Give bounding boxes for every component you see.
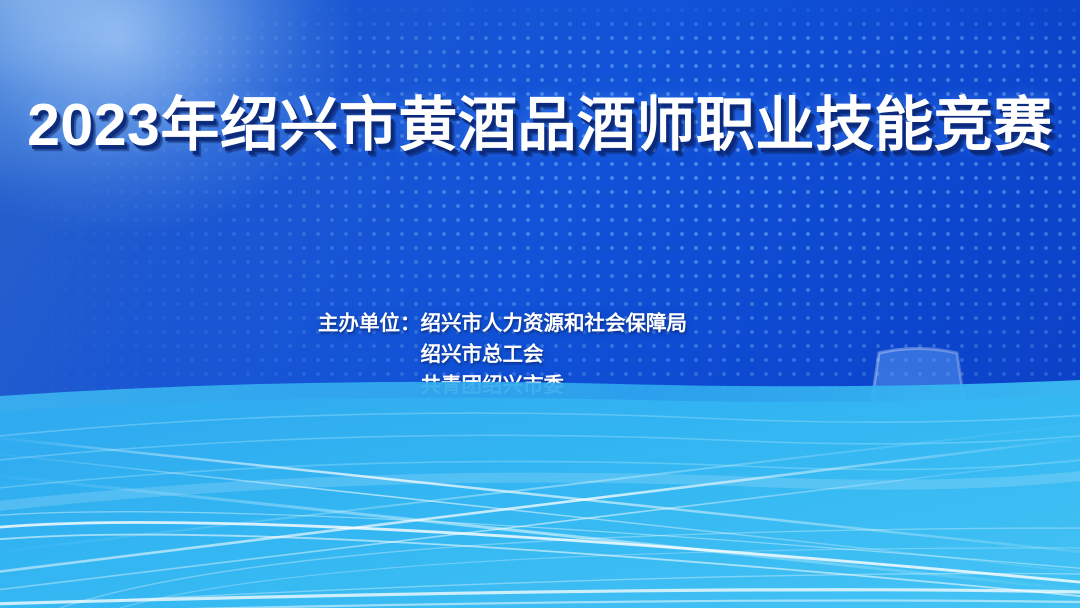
wave-decoration — [0, 378, 1080, 608]
organizer-line: 绍兴市人力资源和社会保障局 — [421, 308, 688, 339]
organizer-label: 主办单位： — [318, 308, 421, 339]
poster-slide: 2023年绍兴市黄酒品酒师职业技能竞赛 主办单位： 绍兴市人力资源和社会保障局 … — [0, 0, 1080, 608]
organizer-line: 绍兴市总工会 — [421, 339, 688, 370]
poster-title: 2023年绍兴市黄酒品酒师职业技能竞赛 — [0, 96, 1080, 155]
